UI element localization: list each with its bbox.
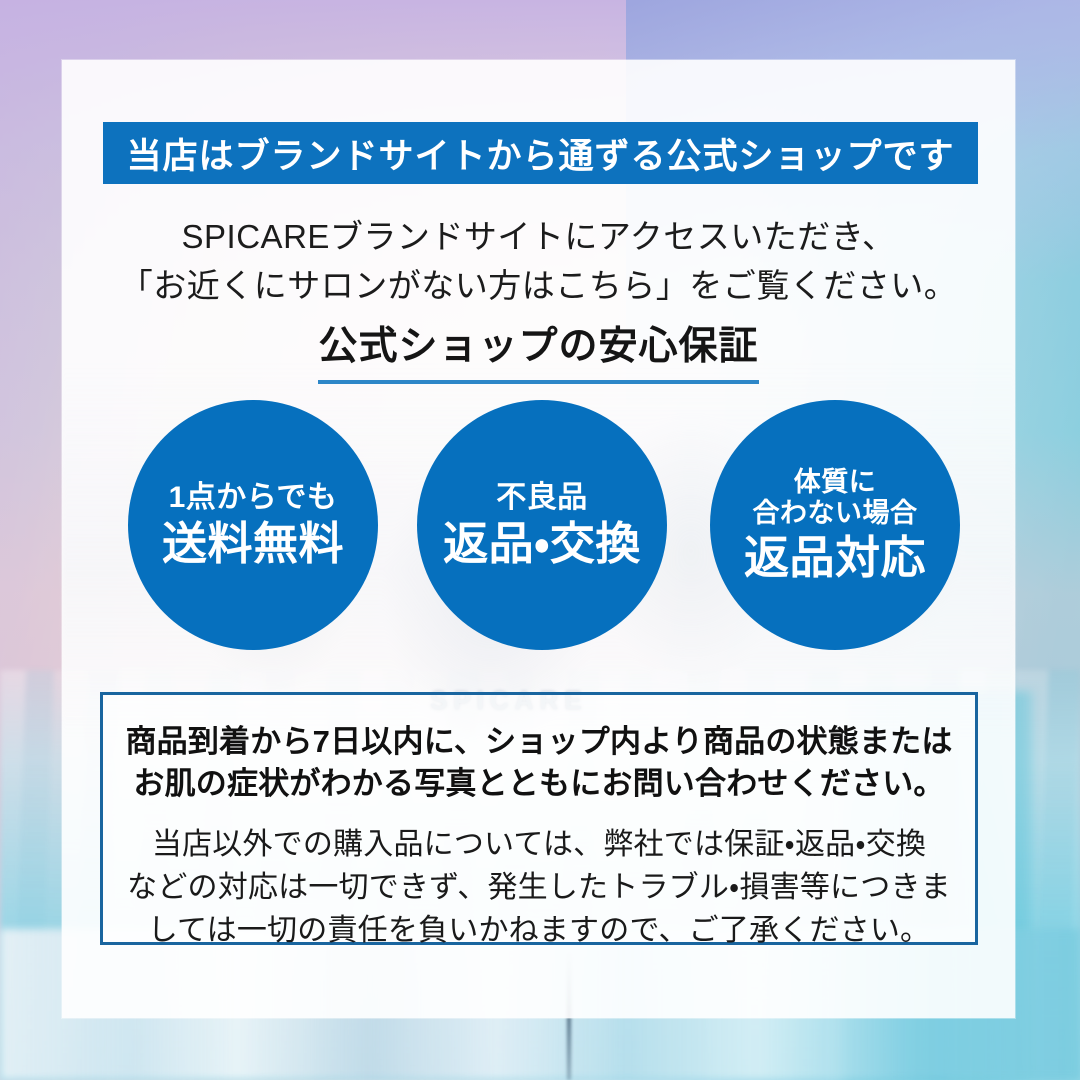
guarantee-circle-2-headline: 返品・交換 <box>443 519 641 569</box>
content-card: SPICARE 当店はブランドサイトから通ずる公式ショップです SPICAREブ… <box>62 60 1015 1018</box>
guarantee-circle-3-subtext-line-1: 体質に <box>794 467 877 498</box>
guarantee-circle-group: 1点からでも 送料無料 不良品 返品・交換 体質に 合わない場合 返品対応 <box>62 400 1015 670</box>
notice-primary-line-1: 商品到着から7日以内に、ショップ内より商品の状態または <box>103 721 975 763</box>
intro-paragraph: SPICAREブランドサイトにアクセスいただき、 「お近くにサロンがない方はこち… <box>62 212 1015 310</box>
guarantee-circle-2-subtext: 不良品 <box>496 481 588 515</box>
notice-primary-paragraph: 商品到着から7日以内に、ショップ内より商品の状態または お肌の症状がわかる写真と… <box>103 721 975 805</box>
guarantee-circle-3-headline: 返品対応 <box>744 533 926 583</box>
guarantee-circle-3-subtext-line-2: 合わない場合 <box>753 498 918 529</box>
guarantee-circle-free-shipping: 1点からでも 送料無料 <box>128 400 378 650</box>
notice-primary-line-2: お肌の症状がわかる写真とともにお問い合わせください。 <box>103 763 975 805</box>
intro-line-1: SPICAREブランドサイトにアクセスいただき、 <box>62 212 1015 261</box>
notice-secondary-line-2: などの対応は一切できず、発生したトラブル・損害等につきま <box>103 866 975 909</box>
section-title-wrapper: 公式ショップの安心保証 <box>62 315 1015 384</box>
notice-secondary-paragraph: 当店以外での購入品については、弊社では保証・返品・交換 などの対応は一切できず、… <box>103 823 975 952</box>
promo-graphic: SPICARE 当店はブランドサイトから通ずる公式ショップです SPICAREブ… <box>0 0 1080 1080</box>
guarantee-circle-skin-mismatch: 体質に 合わない場合 返品対応 <box>710 400 960 650</box>
intro-line-2: 「お近くにサロンがない方はこちら」をご覧ください。 <box>62 261 1015 310</box>
guarantee-circle-1-subtext: 1点からでも <box>169 481 338 515</box>
header-banner-text: 当店はブランドサイトから通ずる公式ショップです <box>126 128 954 179</box>
notice-secondary-line-1: 当店以外での購入品については、弊社では保証・返品・交換 <box>103 823 975 866</box>
section-title: 公式ショップの安心保証 <box>318 315 758 384</box>
header-banner: 当店はブランドサイトから通ずる公式ショップです <box>103 122 978 184</box>
notice-box: 商品到着から7日以内に、ショップ内より商品の状態または お肌の症状がわかる写真と… <box>100 692 978 945</box>
notice-secondary-line-3: しては一切の責任を負いかねますので、ご了承ください。 <box>103 909 975 952</box>
guarantee-circle-defective-return: 不良品 返品・交換 <box>417 400 667 650</box>
guarantee-circle-1-headline: 送料無料 <box>162 519 344 569</box>
